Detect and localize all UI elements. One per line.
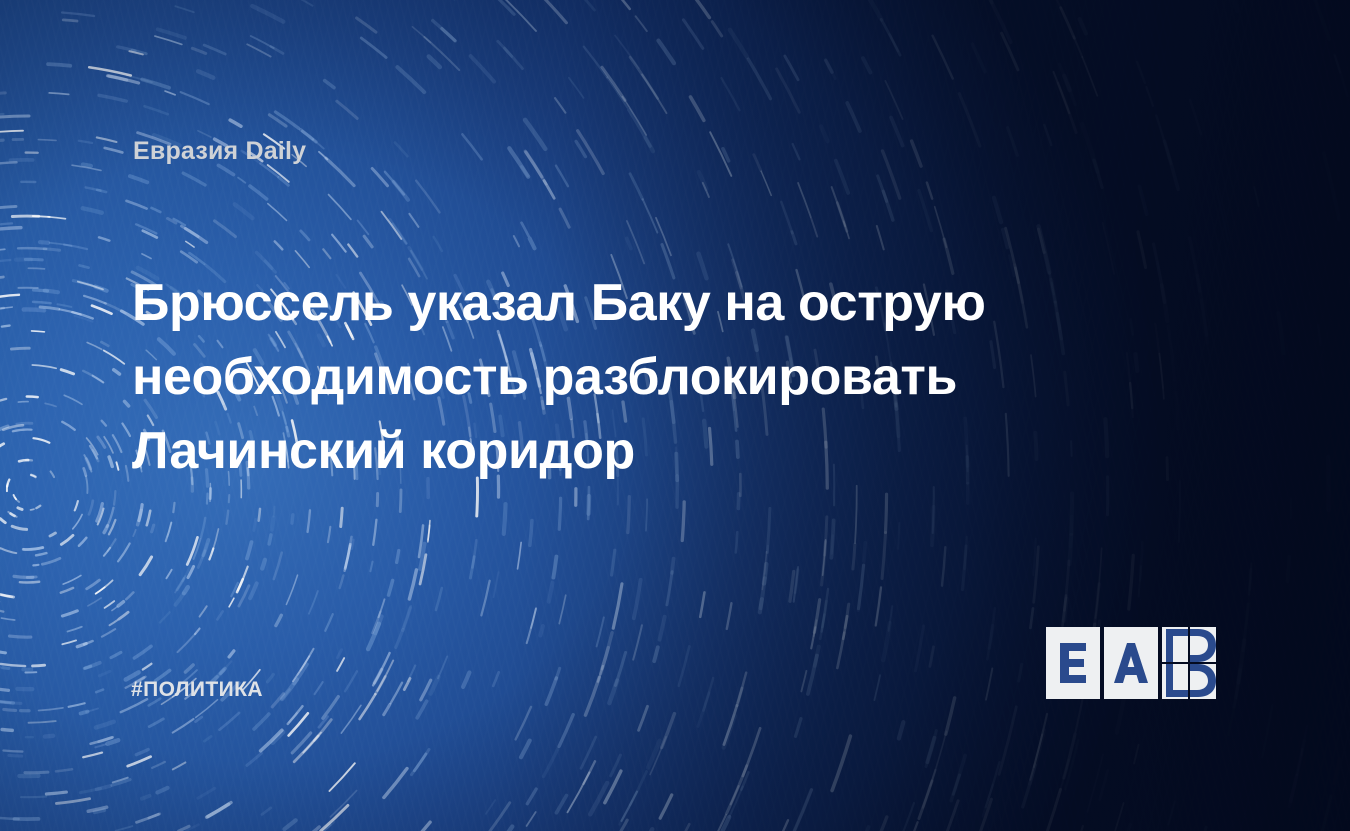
logo-d-quadrant-bl [1162,664,1188,699]
eadaily-logo[interactable] [1046,627,1216,699]
logo-tile-a [1104,627,1158,699]
page-title: Брюссель указал Баку на острую необходим… [132,266,1072,488]
category-tag: #ПОЛИТИКА [131,678,263,702]
logo-tile-d [1162,627,1216,699]
logo-d-quadrant-tr [1190,627,1216,662]
card-content: Евразия Daily Брюссель указал Баку на ос… [0,0,1350,831]
news-card: Евразия Daily Брюссель указал Баку на ос… [0,0,1350,831]
logo-d-quadrant-tl [1162,627,1188,662]
logo-tile-e [1046,627,1100,699]
brand-label: Евразия Daily [133,137,306,166]
logo-d-quadrant-br [1190,664,1216,699]
